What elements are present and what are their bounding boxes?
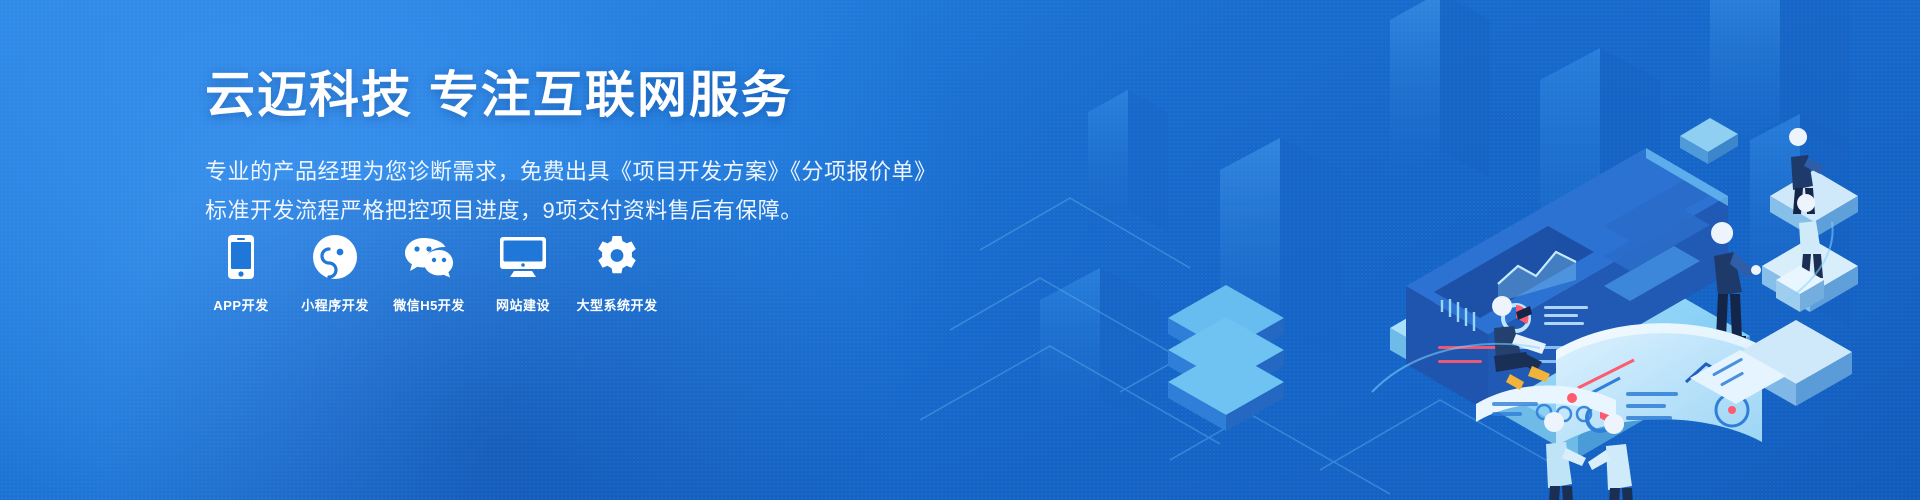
service-item-large-system[interactable]: 大型系统开发	[581, 232, 653, 314]
mini-program-icon	[313, 232, 357, 282]
illustration-isometric-data-dashboard	[920, 0, 1920, 500]
hero-banner: 云迈科技 专注互联网服务 专业的产品经理为您诊断需求，免费出具《项目开发方案》《…	[0, 0, 1920, 500]
page-title: 云迈科技 专注互联网服务	[205, 68, 925, 123]
service-item-website[interactable]: 网站建设	[487, 232, 559, 314]
service-list: APP开发 小程序开发	[205, 232, 675, 314]
mobile-phone-icon	[228, 232, 254, 282]
service-item-mini-program[interactable]: 小程序开发	[299, 232, 371, 314]
subtitle-line-2: 标准开发流程严格把控项目进度，9项交付资料售后有保障。	[205, 192, 925, 231]
monitor-icon	[500, 232, 546, 282]
service-item-app[interactable]: APP开发	[205, 232, 277, 314]
service-label: 小程序开发	[301, 295, 369, 314]
service-label: 微信H5开发	[393, 295, 465, 314]
wechat-icon	[405, 232, 453, 282]
service-item-wechat-h5[interactable]: 微信H5开发	[393, 232, 465, 314]
banner-text-block: 云迈科技 专注互联网服务 专业的产品经理为您诊断需求，免费出具《项目开发方案》《…	[205, 68, 925, 230]
service-label: 网站建设	[496, 295, 550, 314]
service-label: 大型系统开发	[577, 295, 658, 314]
subtitle-line-1: 专业的产品经理为您诊断需求，免费出具《项目开发方案》《分项报价单》	[205, 153, 925, 192]
gear-icon	[595, 232, 639, 282]
service-label: APP开发	[213, 295, 268, 314]
